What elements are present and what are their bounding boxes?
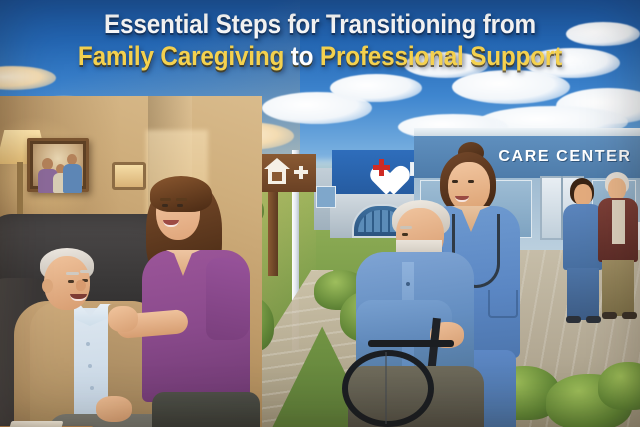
caregiver-brow: [160, 198, 171, 201]
elderly-man-hand: [96, 396, 132, 422]
caregiver-hand: [108, 306, 138, 332]
caregiver-sleeve: [206, 258, 250, 340]
nurse-secondary-shoe: [566, 316, 581, 323]
house-icon: [264, 158, 290, 184]
elderly-woman-shoe: [622, 312, 637, 319]
title-line-1: Essential Steps for Transitioning from: [32, 11, 608, 39]
family-photo-frame: [27, 138, 89, 192]
table-lamp-stem: [17, 162, 23, 214]
nurse-secondary-legs: [567, 268, 599, 320]
title-line-2: Family Caregiving to Professional Suppor…: [32, 43, 608, 71]
nurse-secondary-shoe: [586, 316, 601, 323]
cloud: [330, 74, 422, 102]
caregiver-eye: [162, 204, 168, 207]
elderly-man-brow: [80, 270, 93, 273]
family-photo-image: [33, 144, 83, 186]
photo-person-body: [63, 164, 82, 193]
wheelchair-patient-brow: [400, 226, 412, 229]
elderly-woman-shoe: [602, 312, 617, 319]
title-line-2-part-2: Professional Support: [320, 41, 562, 71]
wheelchair-patient-eye: [402, 233, 408, 236]
medical-cross-icon: [294, 170, 308, 174]
caregiver-eye: [177, 204, 183, 207]
page-title: Essential Steps for Transitioning from F…: [0, 11, 640, 70]
nurse-eye: [452, 180, 458, 183]
caregiver-legs: [152, 392, 260, 427]
nurse-face: [448, 162, 490, 212]
signpost-pole: [268, 190, 278, 276]
care-center-sign-text: CARE CENTER: [498, 148, 631, 166]
elderly-man-ear: [42, 279, 53, 293]
title-highlight-word: to: [291, 41, 314, 71]
nurse-scrub-pocket: [488, 290, 518, 318]
house-window: [272, 172, 282, 181]
shirt-button: [86, 342, 90, 346]
wheelchair-spoke: [385, 352, 387, 424]
elderly-man-eye: [68, 280, 74, 283]
nurse-eye: [468, 180, 474, 183]
elderly-man-nose: [76, 280, 86, 291]
title-line-2-part-1: Family Caregiving: [78, 41, 284, 71]
red-cross-icon: [373, 165, 390, 170]
shirt-button: [88, 364, 92, 368]
care-center-sign: CARE CENTER: [492, 144, 638, 170]
shirt-button: [90, 386, 94, 390]
wheelchair-wheel: [342, 350, 434, 427]
cardigan-lapel-left: [30, 302, 74, 427]
notebook: [9, 421, 64, 427]
wheelchair-armrest: [368, 340, 454, 347]
infographic-banner: CARE CENTER: [0, 0, 640, 427]
shirt-button: [406, 282, 410, 286]
wall-picture-small: [112, 162, 146, 190]
nurse-secondary-body: [563, 204, 603, 270]
elderly-man-brow: [66, 272, 79, 275]
elderly-woman-shirt: [612, 200, 625, 244]
nurse-secondary-head: [574, 184, 592, 206]
foreground-bush: [598, 362, 640, 410]
elderly-woman-head: [608, 178, 626, 200]
caregiver-brow: [176, 198, 187, 201]
elderly-woman-trousers: [602, 260, 634, 316]
